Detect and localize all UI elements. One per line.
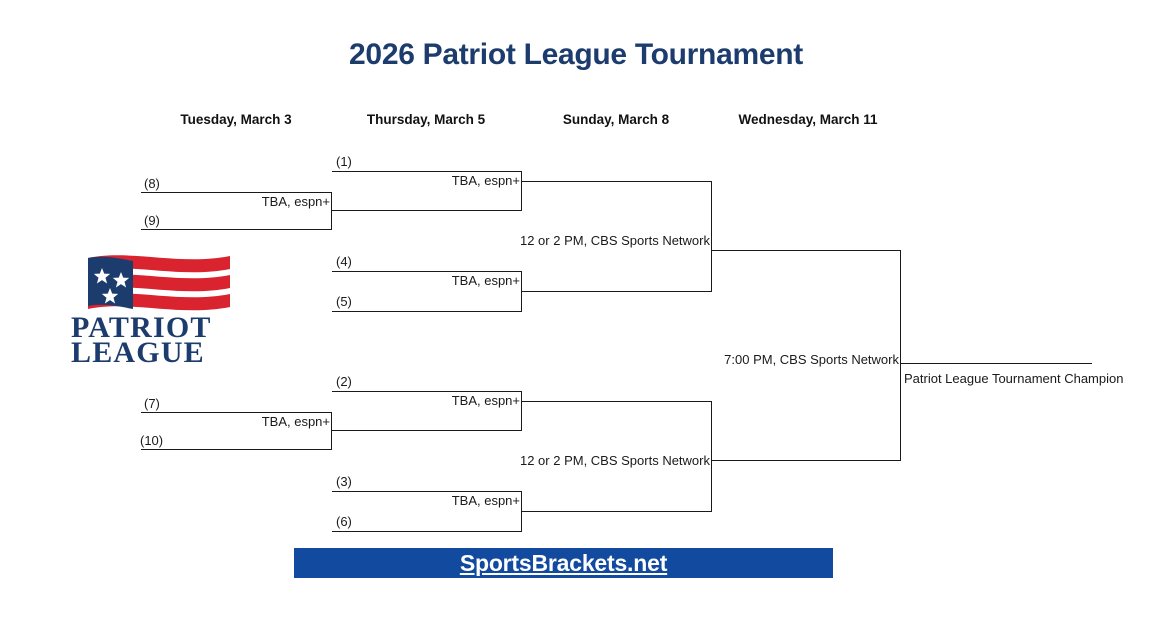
bracket-line-qf3-bottom xyxy=(331,430,522,431)
bracket-connector-qf-3 xyxy=(521,391,522,431)
seed-label-9: (9) xyxy=(144,213,160,228)
game-info-first-round-2: TBA, espn+ xyxy=(192,414,330,429)
bracket-line-seed-3 xyxy=(332,491,522,492)
bracket-line-champion xyxy=(900,363,1092,364)
seed-label-1: (1) xyxy=(336,154,352,169)
seed-label-10: (10) xyxy=(140,433,163,448)
game-info-qf-4: TBA, espn+ xyxy=(382,493,520,508)
game-info-sf-2: 12 or 2 PM, CBS Sports Network xyxy=(512,453,710,468)
bracket-connector-sf-1 xyxy=(711,181,712,292)
bracket-line-seed-10 xyxy=(141,449,332,450)
game-info-qf-2: TBA, espn+ xyxy=(382,273,520,288)
bracket-line-seed-1 xyxy=(332,171,522,172)
bracket-line-sf1-bottom xyxy=(521,291,712,292)
seed-label-3: (3) xyxy=(336,474,352,489)
seed-label-4: (4) xyxy=(336,254,352,269)
game-info-final: 7:00 PM, CBS Sports Network xyxy=(702,352,899,367)
bracket-line-seed-9 xyxy=(141,229,332,230)
bracket-connector-sf-2 xyxy=(711,401,712,512)
bracket-line-seed-7 xyxy=(141,412,332,413)
bracket-connector-final xyxy=(900,250,901,461)
seed-label-8: (8) xyxy=(144,176,160,191)
bracket-line-final-top xyxy=(711,250,901,251)
game-info-qf-1: TBA, espn+ xyxy=(382,173,520,188)
game-info-qf-3: TBA, espn+ xyxy=(382,393,520,408)
round-header-first-round: Tuesday, March 3 xyxy=(136,112,336,127)
logo-text-league: LEAGUE xyxy=(71,336,205,364)
bracket-line-sf2-bottom xyxy=(521,511,712,512)
bracket-line-sf2-top xyxy=(521,401,712,402)
seed-label-5: (5) xyxy=(336,294,352,309)
seed-label-6: (6) xyxy=(336,514,352,529)
patriot-league-logo: PATRIOT LEAGUE xyxy=(70,252,260,364)
seed-label-7: (7) xyxy=(144,396,160,411)
seed-label-2: (2) xyxy=(336,374,352,389)
bracket-connector-first-round-1 xyxy=(331,192,332,230)
bracket-line-seed-6 xyxy=(332,531,522,532)
bracket-line-seed-5 xyxy=(332,311,522,312)
patriot-league-flag-icon: PATRIOT LEAGUE xyxy=(70,252,260,364)
footer-banner[interactable]: SportsBrackets.net xyxy=(294,548,833,578)
bracket-line-final-bottom xyxy=(711,460,901,461)
champion-label: Patriot League Tournament Champion xyxy=(904,371,1123,386)
bracket-line-seed-4 xyxy=(332,271,522,272)
round-header-championship: Wednesday, March 11 xyxy=(708,112,908,127)
footer-brand-link[interactable]: SportsBrackets.net xyxy=(460,550,667,577)
game-info-sf-1: 12 or 2 PM, CBS Sports Network xyxy=(512,233,710,248)
bracket-line-sf1-top xyxy=(521,181,712,182)
round-header-semifinals: Sunday, March 8 xyxy=(516,112,716,127)
bracket-connector-first-round-2 xyxy=(331,412,332,450)
bracket-page: 2026 Patriot League Tournament Tuesday, … xyxy=(0,0,1152,624)
game-info-first-round-1: TBA, espn+ xyxy=(192,194,330,209)
bracket-line-seed-8 xyxy=(141,192,332,193)
page-title: 2026 Patriot League Tournament xyxy=(0,38,1152,72)
round-header-quarterfinals: Thursday, March 5 xyxy=(326,112,526,127)
bracket-line-qf1-bottom xyxy=(331,210,522,211)
bracket-connector-qf-1 xyxy=(521,171,522,211)
bracket-line-seed-2 xyxy=(332,391,522,392)
